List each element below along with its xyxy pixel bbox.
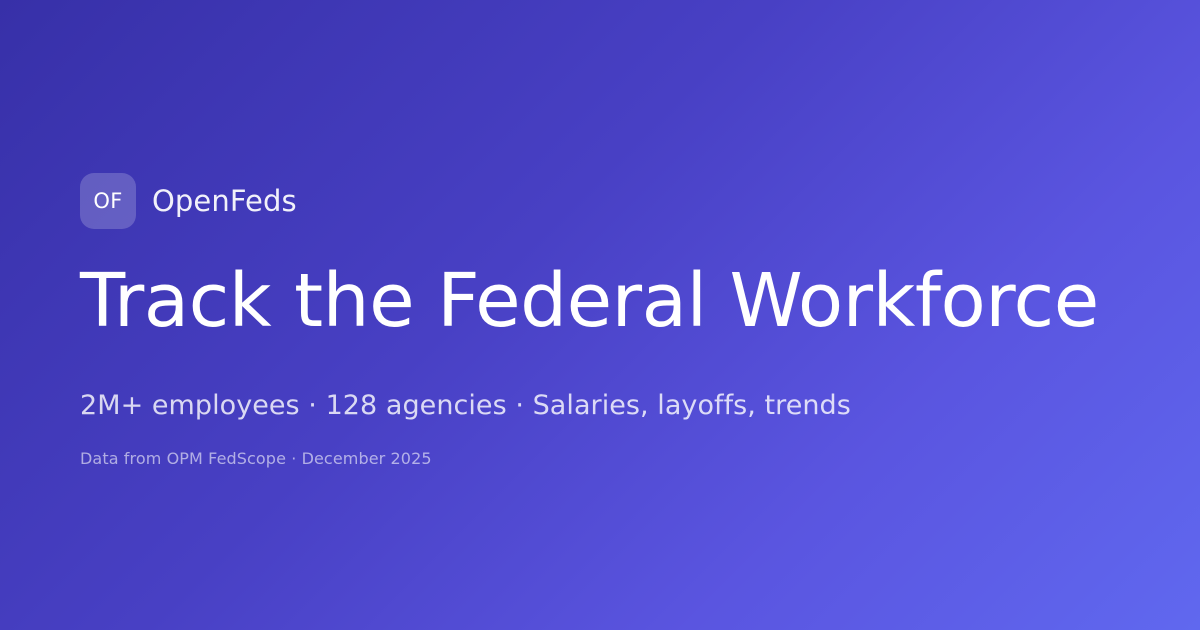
- hero-subtitle: 2M+ employees · 128 agencies · Salaries,…: [80, 390, 1120, 422]
- page-title: Track the Federal Workforce: [80, 262, 1120, 340]
- brand-wordmark: OpenFeds: [152, 187, 297, 216]
- data-source-caption: Data from OPM FedScope · December 2025: [80, 449, 1120, 468]
- brand-lockup: OF OpenFeds: [80, 173, 1120, 229]
- hero-content: OF OpenFeds Track the Federal Workforce …: [80, 173, 1120, 485]
- brand-logo-badge: OF: [80, 173, 136, 229]
- brand-badge-initials: OF: [93, 191, 122, 212]
- og-hero-card: OF OpenFeds Track the Federal Workforce …: [0, 0, 1200, 630]
